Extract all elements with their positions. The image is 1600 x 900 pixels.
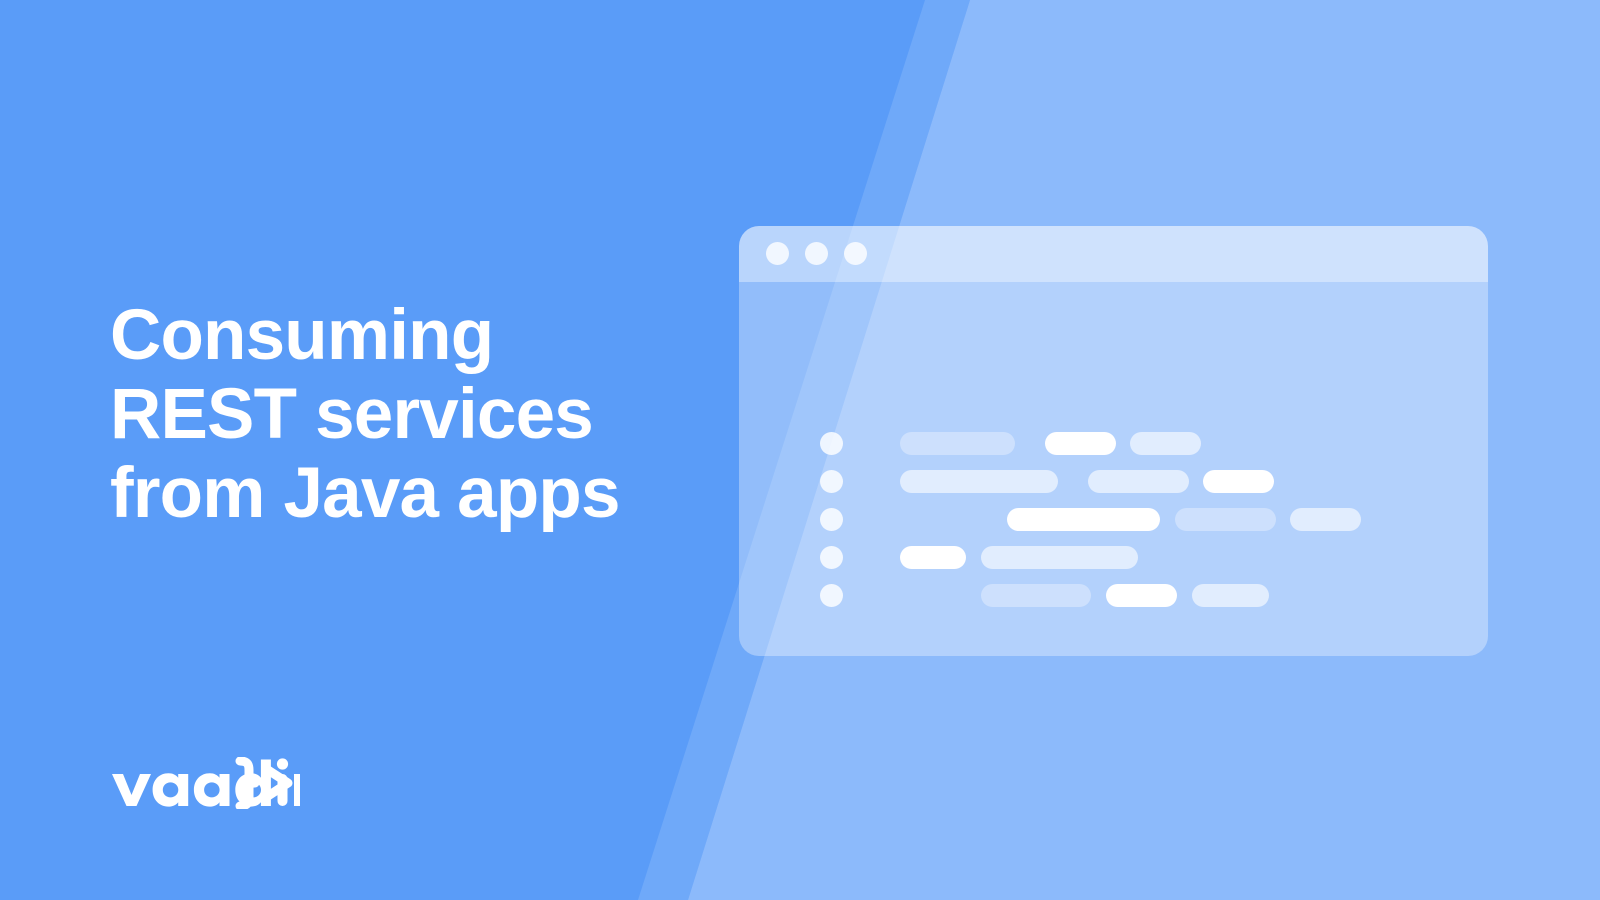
- placeholder-bar: [1192, 584, 1269, 607]
- browser-window-mock: [739, 226, 1488, 656]
- placeholder-bar: [981, 584, 1091, 607]
- window-dot-close-icon[interactable]: [766, 242, 789, 265]
- vaadin-logo: [110, 757, 308, 809]
- placeholder-bar: [1106, 584, 1177, 607]
- placeholder-bar: [900, 470, 1058, 493]
- table-row[interactable]: [739, 470, 1488, 493]
- window-dot-maximize-icon[interactable]: [844, 242, 867, 265]
- row-bullet-icon: [820, 470, 843, 493]
- row-bullet-icon: [820, 546, 843, 569]
- table-row[interactable]: [739, 508, 1488, 531]
- placeholder-bar: [1088, 470, 1189, 493]
- placeholder-bar: [1007, 508, 1160, 531]
- row-bullet-icon: [820, 584, 843, 607]
- table-row[interactable]: [739, 432, 1488, 455]
- placeholder-bar: [900, 432, 1015, 455]
- placeholder-bar: [981, 546, 1138, 569]
- placeholder-bar: [1045, 432, 1116, 455]
- browser-content-area: [739, 282, 1488, 656]
- table-row[interactable]: [739, 584, 1488, 607]
- window-dot-minimize-icon[interactable]: [805, 242, 828, 265]
- page-title: Consuming REST services from Java apps: [110, 296, 730, 533]
- placeholder-bar: [1175, 508, 1276, 531]
- browser-title-bar: [739, 226, 1488, 282]
- placeholder-bar: [1290, 508, 1361, 531]
- placeholder-bar: [1130, 432, 1201, 455]
- row-bullet-icon: [820, 432, 843, 455]
- skeleton-row-list: [739, 282, 1488, 656]
- placeholder-bar: [900, 546, 966, 569]
- window-control-dots: [766, 242, 867, 265]
- placeholder-bar: [1203, 470, 1274, 493]
- banner-canvas: Consuming REST services from Java apps: [0, 0, 1600, 900]
- row-bullet-icon: [820, 508, 843, 531]
- table-row[interactable]: [739, 546, 1488, 569]
- vaadin-bracket-icon: [196, 757, 308, 809]
